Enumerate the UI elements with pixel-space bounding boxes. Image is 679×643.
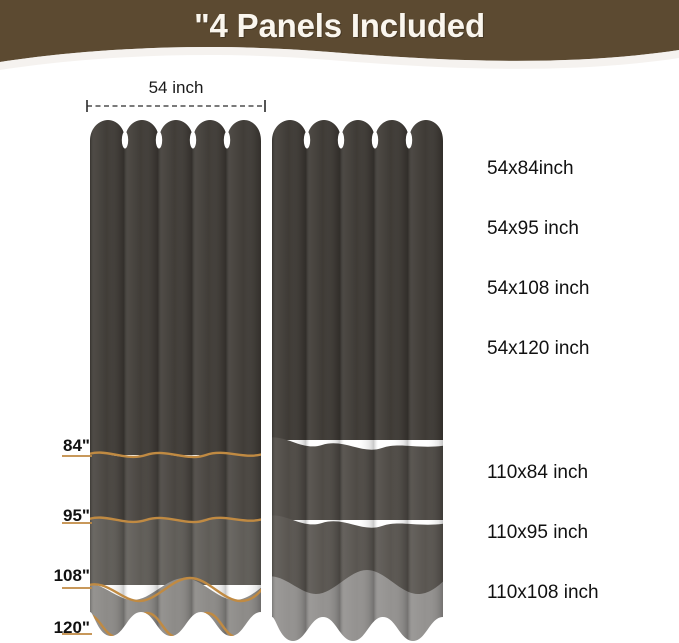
size-option-110x95: 110x95 inch — [487, 522, 588, 544]
height-callout-95: 95" — [20, 506, 90, 526]
size-option-54x120: 54x120 inch — [487, 338, 589, 360]
size-option-54x95: 54x95 inch — [487, 218, 579, 240]
width-dimension-line — [86, 99, 266, 113]
header-banner: "4 Panels Included — [0, 0, 679, 80]
left-panel-pleats — [90, 110, 261, 643]
right-panel-grommets — [304, 132, 412, 149]
width-dimension-label: 54 inch — [86, 78, 266, 98]
height-callout-84: 84" — [20, 436, 90, 456]
size-option-110x84: 110x84 inch — [487, 462, 588, 484]
banner-title: "4 Panels Included — [0, 6, 679, 46]
height-leader-lines — [62, 456, 92, 634]
size-option-54x84: 54x84inch — [487, 158, 574, 180]
right-curtain-panel — [262, 110, 457, 643]
left-curtain-panel — [80, 110, 275, 643]
height-callout-120: 120" — [12, 618, 90, 638]
right-panel-pleats — [272, 110, 443, 643]
height-callout-108: 108" — [12, 566, 90, 586]
left-panel-grommets — [122, 132, 230, 149]
size-option-110x108: 110x108 inch — [487, 582, 599, 604]
left-panel-hem-lines — [86, 453, 270, 637]
size-option-54x108: 54x108 inch — [487, 278, 589, 300]
